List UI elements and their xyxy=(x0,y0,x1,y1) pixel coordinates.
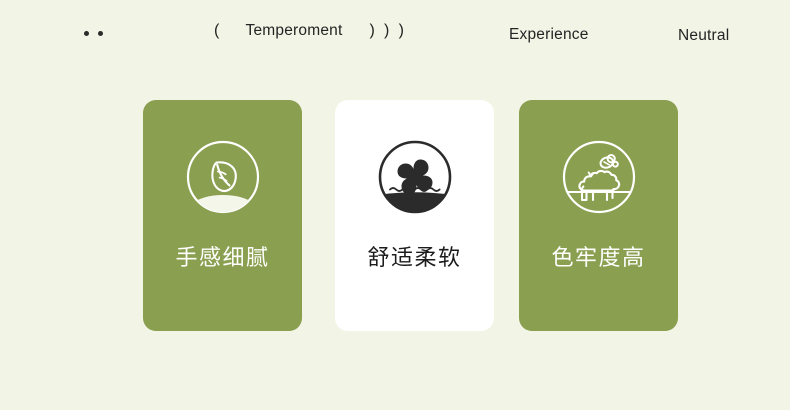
feature-card-label: 色牢度高 xyxy=(551,240,645,272)
feature-cards-row: 手感细腻 xyxy=(143,100,676,331)
leaf-in-circle-icon xyxy=(184,138,262,216)
decoration-dot-icon xyxy=(98,31,103,36)
temperoment-label: Temperoment xyxy=(246,22,343,40)
feature-card-color-fastness[interactable]: 色牢度高 xyxy=(519,100,678,331)
experience-label: Experience xyxy=(509,26,589,44)
sheep-in-circle-icon xyxy=(560,138,638,216)
fan-in-circle-icon xyxy=(376,138,454,216)
feature-card-label: 舒适柔软 xyxy=(367,240,461,272)
temperoment-heading-group: ( Temperoment ) ) ) xyxy=(214,22,404,40)
feature-card-label: 手感细腻 xyxy=(175,240,269,272)
paren-open: ( xyxy=(214,22,220,40)
decoration-dot-icon xyxy=(84,31,89,36)
feature-card-comfort[interactable]: 舒适柔软 xyxy=(335,100,494,331)
paren-close-3: ) xyxy=(399,22,405,40)
dots-decoration xyxy=(84,31,103,36)
feature-card-hand-feel[interactable]: 手感细腻 xyxy=(143,100,302,331)
neutral-label: Neutral xyxy=(678,27,729,45)
paren-close-1: ) xyxy=(370,22,376,40)
header-bar: ( Temperoment ) ) ) Experience Neutral xyxy=(0,0,790,72)
paren-close-2: ) xyxy=(384,22,390,40)
